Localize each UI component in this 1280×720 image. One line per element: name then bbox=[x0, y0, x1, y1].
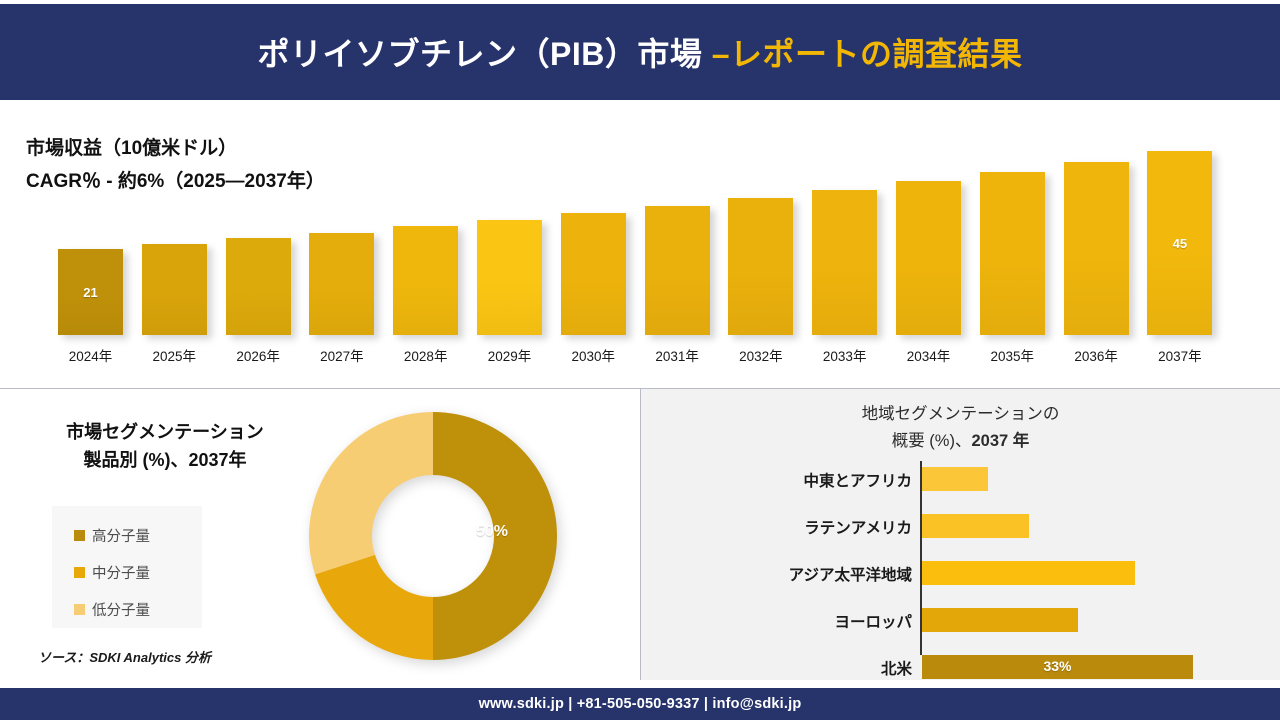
regional-segmentation-panel: 地域セグメンテーションの 概要 (%)、2037 年 中東とアフリカラテンアメリ… bbox=[641, 389, 1280, 680]
region-bar[interactable] bbox=[922, 561, 1135, 585]
region-bar-row: 中東とアフリカ bbox=[922, 467, 988, 491]
bar-value-label: 21 bbox=[58, 285, 123, 300]
bar-category-label: 2036年 bbox=[1055, 345, 1138, 365]
region-title-line1: 地域セグメンテーションの bbox=[862, 405, 1060, 423]
bar-rect bbox=[1064, 162, 1129, 335]
bar-rect bbox=[561, 213, 626, 335]
page-title-main: ポリイソブチレン（PIB）市場 bbox=[257, 36, 711, 72]
product-segmentation-panel: 市場セグメンテーション 製品別 (%)、2037年 高分子量中分子量低分子量 5… bbox=[0, 389, 640, 680]
bar-column: 2028年 bbox=[393, 226, 458, 335]
bar-column: 2030年 bbox=[561, 213, 626, 335]
bar-rect bbox=[980, 172, 1045, 335]
donut-slice[interactable] bbox=[309, 412, 433, 574]
bar-category-label: 2037年 bbox=[1138, 345, 1221, 365]
legend-color-swatch bbox=[74, 567, 85, 578]
region-title-line2: 概要 (%)、 bbox=[892, 432, 972, 450]
bar-column: 2032年 bbox=[728, 198, 793, 335]
region-bar-row: アジア太平洋地域 bbox=[922, 561, 1135, 585]
footer-banner: www.sdki.jp | +81-505-050-9337 | info@sd… bbox=[0, 688, 1280, 720]
bar-category-label: 2031年 bbox=[636, 345, 719, 365]
bar-category-label: 2035年 bbox=[971, 345, 1054, 365]
region-bar-row: ヨーロッパ bbox=[922, 608, 1078, 632]
bar-chart-plot-area: 212024年2025年2026年2027年2028年2029年2030年203… bbox=[0, 100, 1280, 388]
bar-rect bbox=[728, 198, 793, 335]
bar-rect bbox=[226, 238, 291, 335]
region-category-label: 中東とアフリカ bbox=[803, 469, 912, 491]
region-bar[interactable] bbox=[922, 467, 988, 491]
region-category-label: アジア太平洋地域 bbox=[789, 563, 912, 585]
donut-legend-item[interactable]: 低分子量 bbox=[74, 591, 202, 628]
bar-rect bbox=[477, 220, 542, 335]
bar-category-label: 2030年 bbox=[552, 345, 635, 365]
donut-legend-item[interactable]: 中分子量 bbox=[74, 554, 202, 591]
market-revenue-bar-chart: 市場収益（10億米ドル） CAGR％ - 約6%（2025―2037年） 212… bbox=[0, 100, 1280, 388]
bar-column: 2033年 bbox=[812, 190, 877, 335]
bar-column: 2035年 bbox=[980, 172, 1045, 335]
legend-item-label: 高分子量 bbox=[92, 525, 150, 546]
donut-legend: 高分子量中分子量低分子量 bbox=[52, 506, 202, 628]
bar-column: 2025年 bbox=[142, 244, 207, 335]
bar-category-label: 2029年 bbox=[468, 345, 551, 365]
region-title-year: 2037 年 bbox=[971, 432, 1029, 450]
region-bar-row: ラテンアメリカ bbox=[922, 514, 1029, 538]
legend-color-swatch bbox=[74, 530, 85, 541]
region-category-label: ラテンアメリカ bbox=[804, 516, 912, 538]
bar-category-label: 2033年 bbox=[803, 345, 886, 365]
donut-legend-item[interactable]: 高分子量 bbox=[74, 517, 202, 554]
donut-chart-title: 市場セグメンテーション 製品別 (%)、2037年 bbox=[20, 419, 310, 475]
bar-category-label: 2027年 bbox=[300, 345, 383, 365]
bar-rect bbox=[812, 190, 877, 335]
region-chart-title: 地域セグメンテーションの 概要 (%)、2037 年 bbox=[641, 401, 1280, 455]
bar-category-label: 2026年 bbox=[217, 345, 300, 365]
footer-contact-text: www.sdki.jp | +81-505-050-9337 | info@sd… bbox=[479, 696, 802, 712]
donut-slice[interactable] bbox=[315, 555, 433, 660]
bar-column: 2034年 bbox=[896, 181, 961, 335]
bar-category-label: 2032年 bbox=[719, 345, 802, 365]
bar-value-label: 45 bbox=[1147, 236, 1212, 251]
donut-chart-svg bbox=[308, 411, 558, 661]
bar-category-label: 2028年 bbox=[384, 345, 467, 365]
bar-rect bbox=[309, 233, 374, 335]
region-category-label: 北米 bbox=[881, 657, 912, 679]
donut-slice-label: 50% bbox=[476, 523, 508, 541]
source-note: ソース：SDKI Analytics 分析 bbox=[38, 647, 211, 666]
bar-column: 2031年 bbox=[645, 206, 710, 335]
bar-column: 2027年 bbox=[309, 233, 374, 335]
legend-item-label: 低分子量 bbox=[92, 599, 150, 620]
bar-rect bbox=[393, 226, 458, 335]
bar-category-label: 2024年 bbox=[49, 345, 132, 365]
region-bar-row: 北米33% bbox=[922, 655, 1193, 679]
bar-category-label: 2025年 bbox=[133, 345, 216, 365]
region-category-label: ヨーロッパ bbox=[834, 610, 912, 632]
bar-rect bbox=[142, 244, 207, 335]
region-bar[interactable] bbox=[922, 608, 1078, 632]
region-value-label: 33% bbox=[922, 658, 1193, 674]
donut-title-line1: 市場セグメンテーション bbox=[66, 422, 264, 442]
bar-column: 2029年 bbox=[477, 220, 542, 335]
bar-category-label: 2034年 bbox=[887, 345, 970, 365]
bar-rect bbox=[896, 181, 961, 335]
header-banner: ポリイソブチレン（PIB）市場 –レポートの調査結果 bbox=[0, 4, 1280, 100]
bar-column: 212024年 bbox=[58, 249, 123, 335]
bar-column: 2036年 bbox=[1064, 162, 1129, 335]
bar-rect bbox=[645, 206, 710, 335]
bar-column: 452037年 bbox=[1147, 151, 1212, 335]
page-title: ポリイソブチレン（PIB）市場 –レポートの調査結果 bbox=[257, 29, 1022, 75]
legend-item-label: 中分子量 bbox=[92, 562, 150, 583]
page-title-accent: –レポートの調査結果 bbox=[712, 36, 1023, 72]
donut-title-line2: 製品別 (%)、2037年 bbox=[83, 450, 246, 470]
legend-color-swatch bbox=[74, 604, 85, 615]
region-bar[interactable] bbox=[922, 514, 1029, 538]
bar-column: 2026年 bbox=[226, 238, 291, 335]
donut-chart: 50% bbox=[308, 411, 558, 661]
